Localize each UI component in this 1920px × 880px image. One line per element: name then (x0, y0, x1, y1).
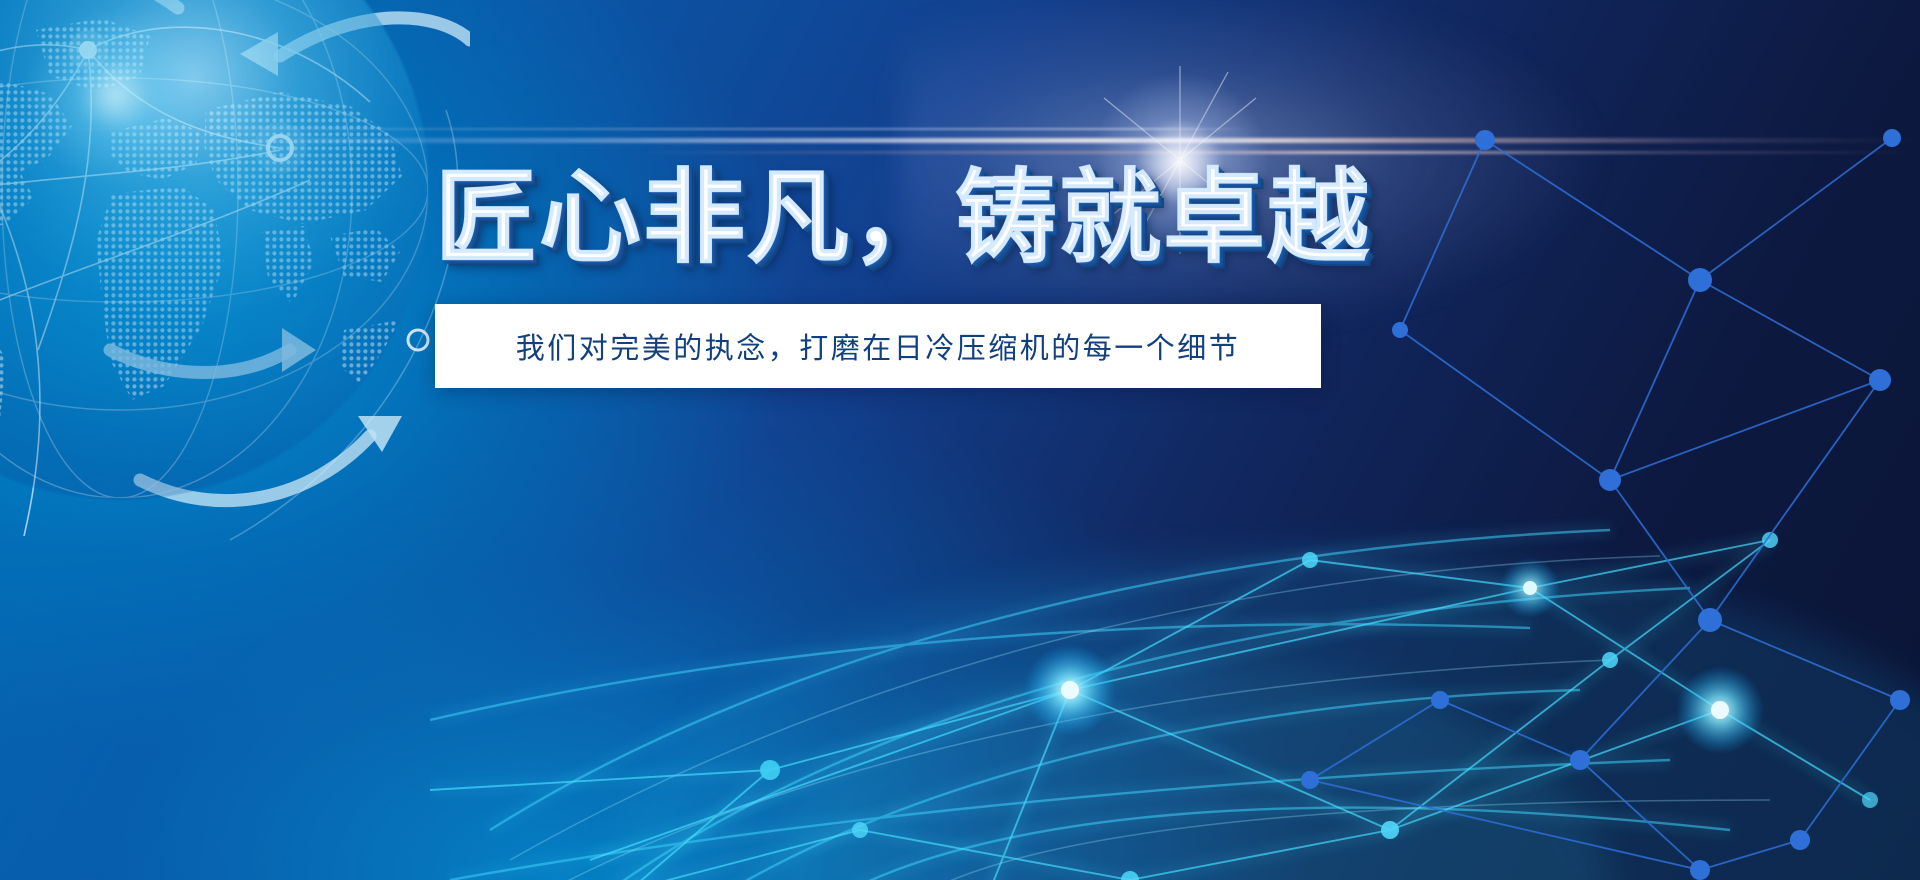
subtitle-bar: 我们对完美的执念，打磨在日冷压缩机的每一个细节 (435, 304, 1321, 388)
banner-text-block: 匠心非凡，铸就卓越 我们对完美的执念，打磨在日冷压缩机的每一个细节 (435, 168, 1335, 388)
globe-graphic (0, 0, 470, 580)
page-title: 匠心非凡，铸就卓越 (435, 168, 1335, 270)
polygon-nodes (1301, 129, 1910, 880)
lens-flare-streak-tertiary (0, 128, 1250, 130)
globe-nodes (0, 30, 428, 445)
polygon-network-graphic (1280, 80, 1920, 880)
globe-svg (0, 0, 470, 580)
mesh-nodes (621, 532, 1878, 880)
orbit-arrow-icon (0, 0, 140, 2)
lens-flare-streak (180, 138, 1920, 143)
orbit-arrow-arcs (0, 0, 470, 501)
hero-banner: 匠心非凡，铸就卓越 我们对完美的执念，打磨在日冷压缩机的每一个细节 (0, 0, 1920, 880)
globe-highlight (25, 5, 205, 185)
globe-sphere (0, 0, 430, 500)
lens-flare-streak-secondary (620, 151, 1920, 154)
subtitle-text: 我们对完美的执念，打磨在日冷压缩机的每一个细节 (516, 325, 1241, 367)
network-mesh-graphic (430, 360, 1920, 880)
